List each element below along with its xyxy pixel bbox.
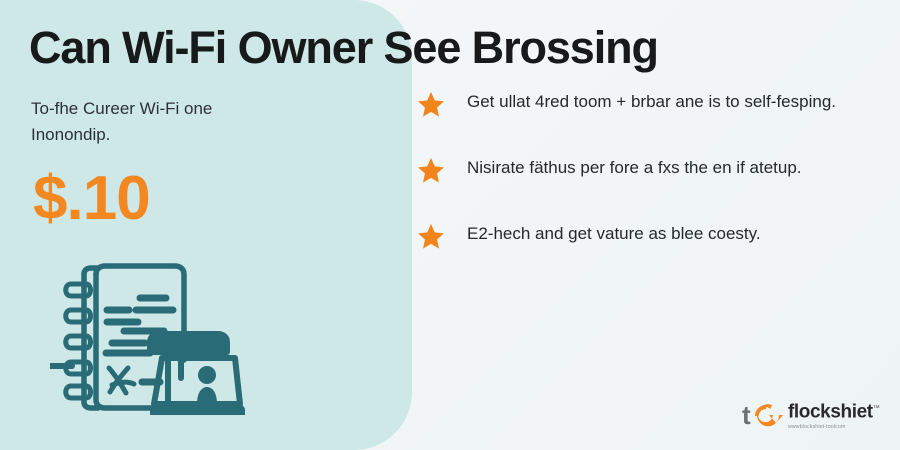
logo-tagline: wwwblockshiet-toolcom — [788, 424, 879, 431]
page-title: Can Wi-Fi Owner See Brossing — [29, 22, 874, 74]
trademark-symbol: ™ — [873, 405, 880, 412]
list-item-label: Nisirate fäthus per fore a fxs the en if… — [467, 154, 868, 181]
brand-logo[interactable]: t flockshiet™ wwwblockshiet-toolcom — [742, 398, 879, 432]
svg-text:t: t — [742, 400, 751, 430]
notebook-and-monitor-illustration — [50, 258, 265, 418]
star-icon — [416, 156, 446, 185]
price-label: $.10 — [33, 168, 150, 230]
star-icon — [416, 222, 446, 251]
logo-name: flockshiet™ — [788, 399, 879, 422]
list-item-label: E2-hech and get vature as blee coesty. — [467, 220, 868, 247]
list-item: E2-hech and get vature as blee coesty. — [416, 220, 868, 251]
infographic-canvas: Can Wi-Fi Owner See Brossing To-fhe Cure… — [0, 0, 900, 450]
bullet-list: Get ullat 4red toom + brbar ane is to se… — [416, 88, 868, 286]
list-item: Nisirate fäthus per fore a fxs the en if… — [416, 154, 868, 185]
star-icon — [416, 90, 446, 119]
illustration-svg — [50, 258, 265, 418]
list-item-label: Get ullat 4red toom + brbar ane is to se… — [467, 88, 868, 115]
list-item: Get ullat 4red toom + brbar ane is to se… — [416, 88, 868, 119]
logo-name-text: flockshiet — [788, 402, 873, 423]
logo-text-group: flockshiet™ wwwblockshiet-toolcom — [788, 399, 879, 430]
subtitle-text: To-fhe Cureer Wi-Fi one Inonondip. — [31, 96, 281, 148]
circular-arrow-icon: t — [742, 398, 784, 432]
